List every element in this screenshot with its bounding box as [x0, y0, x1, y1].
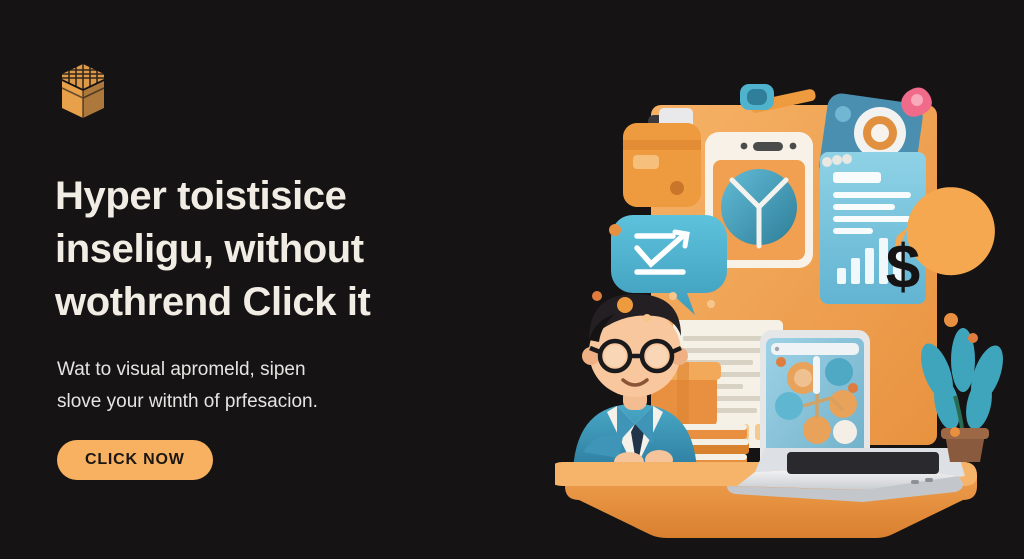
hero-illustration: $	[555, 0, 1024, 559]
svg-text:$: $	[886, 233, 920, 302]
page-title: Hyper toistisice inseligu, without wothr…	[55, 170, 485, 329]
click-now-button[interactable]: CLICK NOW	[57, 440, 213, 480]
subtitle-text: Wat to visual apromeld, sipen slove your…	[57, 354, 447, 418]
brand-logo-icon[interactable]	[56, 62, 110, 120]
laptop	[727, 448, 965, 502]
promo-banner: Hyper toistisice inseligu, without wothr…	[0, 0, 1024, 559]
orange-briefcase-icon	[623, 108, 701, 207]
